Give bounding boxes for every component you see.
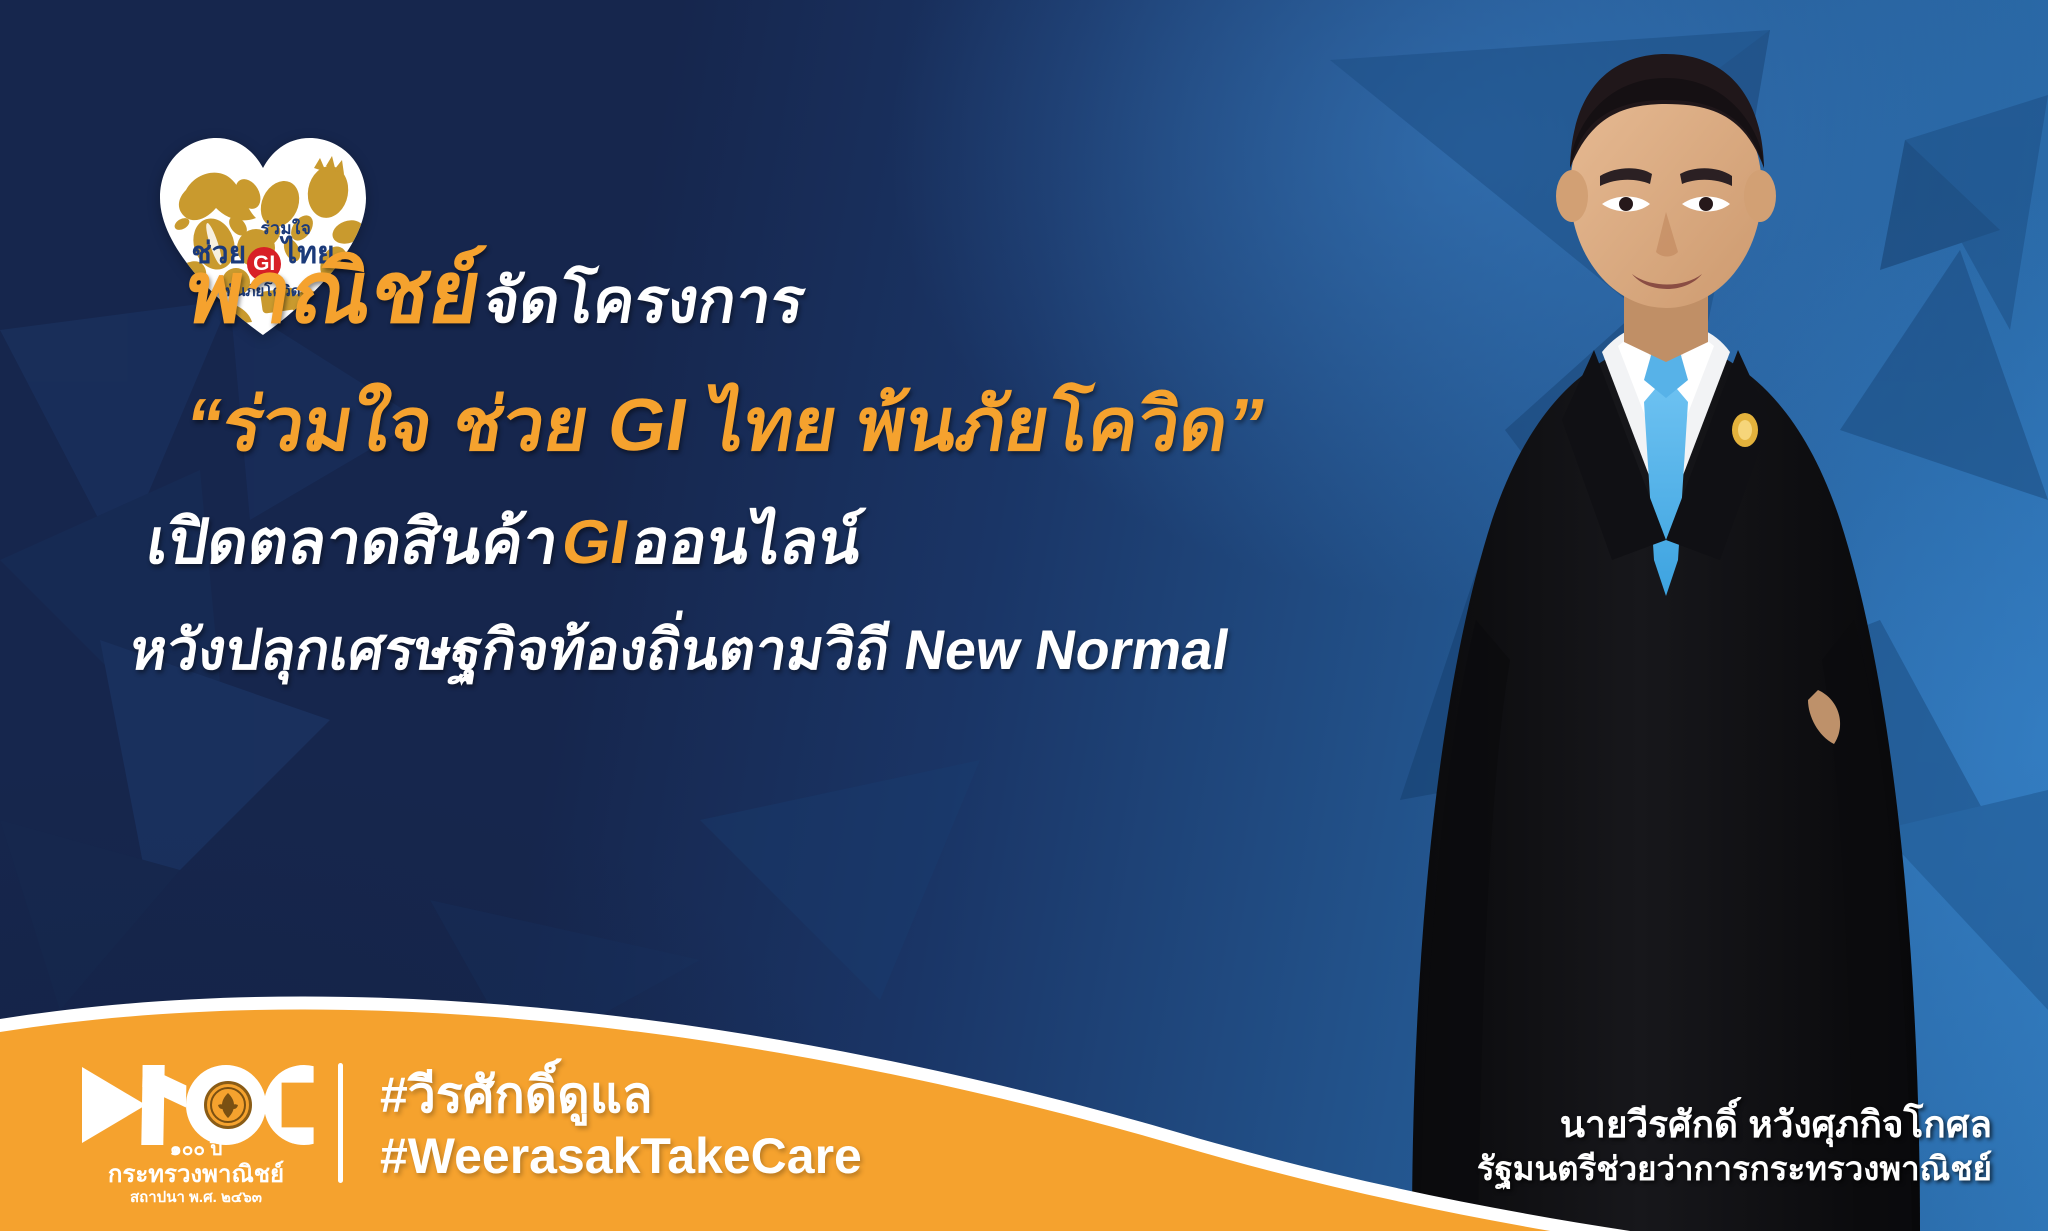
headline-block: พาณิชย์ จัดโครงการ “ร่วมใจ ช่วย GI ไทย พ… xyxy=(126,250,1444,678)
headline-line-3-b: ออนไลน์ xyxy=(627,508,866,577)
credit-name: นายวีรศักดิ์ หวังศุภกิจโกศล xyxy=(1477,1102,1992,1148)
headline-line-2: “ร่วมใจ ช่วย GI ไทย พ้นภัยโควิด” xyxy=(160,388,1422,462)
digit-one-icon xyxy=(141,1065,188,1145)
headline-line-3-a: เปิดตลาดสินค้า xyxy=(142,508,564,577)
headline-line-1-strong: พาณิชย์ xyxy=(179,245,488,341)
credit-title: รัฐมนตรีช่วยว่าการกระทรวงพาณิชย์ xyxy=(1477,1148,1992,1189)
headline-line-1-rest: จัดโครงการ xyxy=(478,267,810,336)
hashtag-english: #WeerasakTakeCare xyxy=(380,1126,862,1187)
moc-ministry: กระทรวงพาณิชย์ xyxy=(78,1161,314,1189)
hashtag-thai: #วีรศักดิ์ดูแล xyxy=(380,1065,862,1126)
footer-divider xyxy=(338,1063,343,1183)
headline-line-3: เปิดตลาดสินค้า GI ออนไลน์ xyxy=(143,512,1403,574)
headline-line-2-text: “ร่วมใจ ช่วย GI ไทย พ้นภัยโควิด” xyxy=(180,383,1272,466)
play-triangle-icon xyxy=(82,1067,146,1143)
headline-line-3-strong: GI xyxy=(557,508,633,577)
headline-line-4: หวังปลุกเศรษฐกิจท้องถิ่นตามวิถี New Norm… xyxy=(126,622,1385,678)
ministry-seal-icon xyxy=(204,1081,252,1129)
footer-content: ๑๐๐ ปี กระทรวงพาณิชย์ สถาปนา พ.ศ. ๒๔๖๓ #… xyxy=(0,1001,2048,1231)
credit-block: นายวีรศักดิ์ หวังศุภกิจโกศล รัฐมนตรีช่วย… xyxy=(1477,1102,1992,1190)
moc-100-logo: ๑๐๐ ปี กระทรวงพาณิชย์ สถาปนา พ.ศ. ๒๔๖๓ xyxy=(78,1053,314,1203)
poster-canvas: ร่วมใจ ช่วยGIไทย พ้นภัยโควิด พาณิชย์ จัด… xyxy=(0,0,2048,1231)
moc-years: ๑๐๐ ปี xyxy=(78,1139,314,1161)
hashtag-block: #วีรศักดิ์ดูแล #WeerasakTakeCare xyxy=(380,1065,862,1187)
headline-line-4-text: หวังปลุกเศรษฐกิจท้องถิ่นตามวิถี New Norm… xyxy=(126,618,1234,681)
moc-founded: สถาปนา พ.ศ. ๒๔๖๓ xyxy=(78,1189,314,1207)
letter-c-icon xyxy=(264,1065,344,1145)
headline-line-1: พาณิชย์ จัดโครงการ xyxy=(180,250,1444,336)
